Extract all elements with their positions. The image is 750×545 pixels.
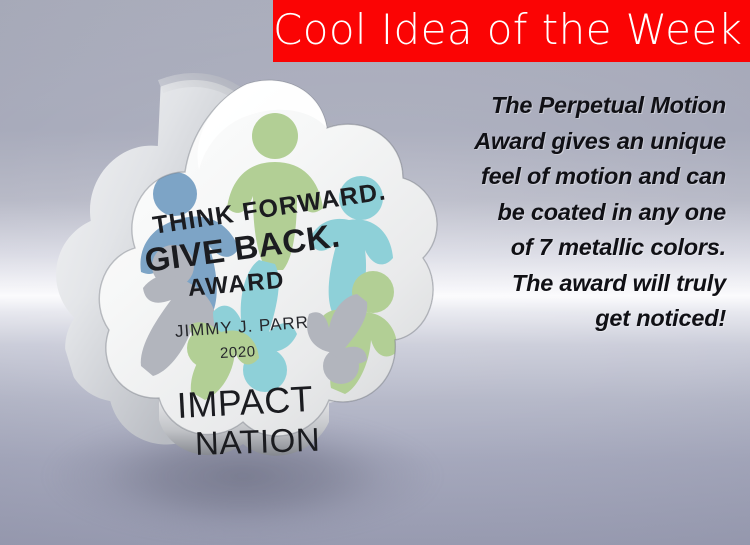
promo-slide: THINK FORWARD. GIVE BACK. AWARD JIMMY J.…: [0, 0, 750, 545]
header-banner: Cool Idea of the Week: [273, 0, 750, 62]
trophy-engraving: THINK FORWARD. GIVE BACK. AWARD JIMMY J.…: [35, 60, 435, 520]
description-line: Award gives an unique: [430, 124, 726, 160]
engraving-org-line-1: IMPACT: [176, 378, 314, 427]
engraving-org-line-2: NATION: [194, 421, 320, 463]
engraving-year: 2020: [220, 343, 257, 362]
award-trophy: THINK FORWARD. GIVE BACK. AWARD JIMMY J.…: [35, 60, 435, 520]
description-line: feel of motion and can: [430, 159, 726, 195]
banner-title: Cool Idea of the Week: [273, 0, 734, 62]
description-line: The Perpetual Motion: [430, 88, 726, 124]
description-line: get noticed!: [430, 301, 726, 337]
description-line: The award will truly: [430, 266, 726, 302]
description-text: The Perpetual Motion Award gives an uniq…: [430, 88, 726, 337]
description-line: be coated in any one: [430, 195, 726, 231]
description-line: of 7 metallic colors.: [430, 230, 726, 266]
engraving-recipient: JIMMY J. PARR: [174, 313, 309, 342]
